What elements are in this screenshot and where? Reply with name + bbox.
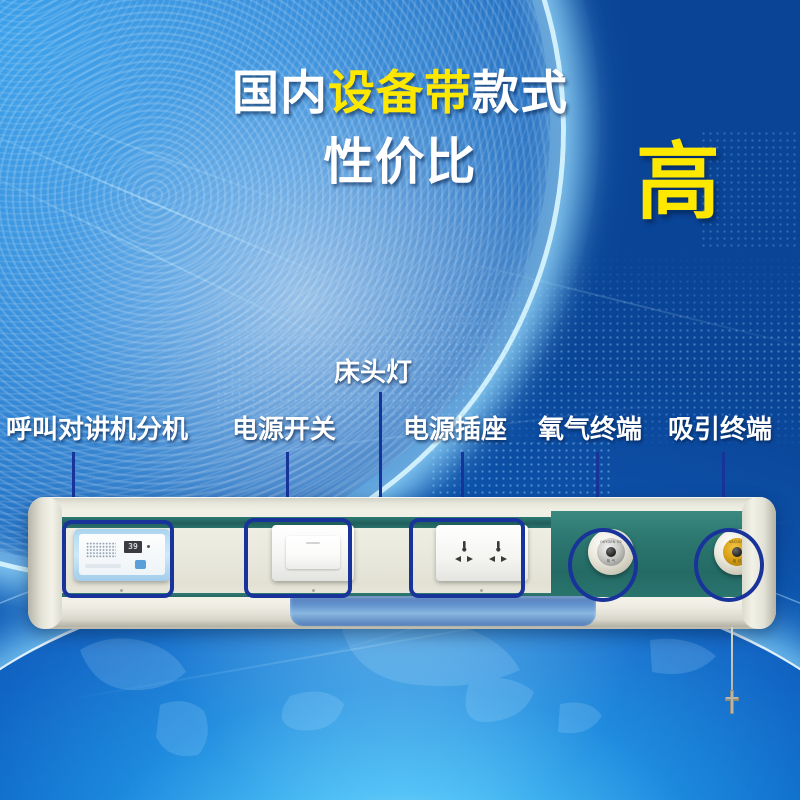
highlight-box-oxygen [568, 528, 638, 602]
highlight-box-intercom [62, 520, 174, 598]
callout-label-socket: 电源插座 [403, 417, 507, 443]
highlight-box-suction [694, 528, 764, 602]
pull-cord-fitting-icon[interactable] [723, 690, 741, 714]
callout-label-switch: 电源开关 [232, 417, 336, 443]
headline-line-1: 国内设备带款式 [0, 70, 800, 117]
callout-label-suction: 吸引终端 [668, 417, 772, 443]
callout-label-intercom: 呼叫对讲机分机 [6, 417, 188, 443]
dot-matrix-texture-2 [430, 440, 610, 500]
callout-label-oxygen: 氧气终端 [538, 417, 642, 443]
bed-head-lamp[interactable] [290, 596, 596, 626]
headline-white-b: 款式 [472, 66, 568, 121]
panel-end-cap-left [28, 497, 62, 629]
highlight-box-socket [409, 518, 525, 598]
headline-subtitle: 性价比 [324, 133, 477, 191]
poster-canvas: 国内设备带款式 性价比 高 呼叫对讲机分机 电源开关 床头灯 电源插座 氧气终端… [0, 0, 800, 800]
headline-yellow: 设备带 [328, 66, 472, 121]
headline-white-a: 国内 [232, 66, 328, 121]
callout-label-bedlamp: 床头灯 [334, 360, 412, 386]
headline-emphasis-gao: 高 [636, 140, 720, 224]
highlight-box-switch [244, 518, 352, 598]
pull-cord[interactable] [731, 627, 733, 695]
